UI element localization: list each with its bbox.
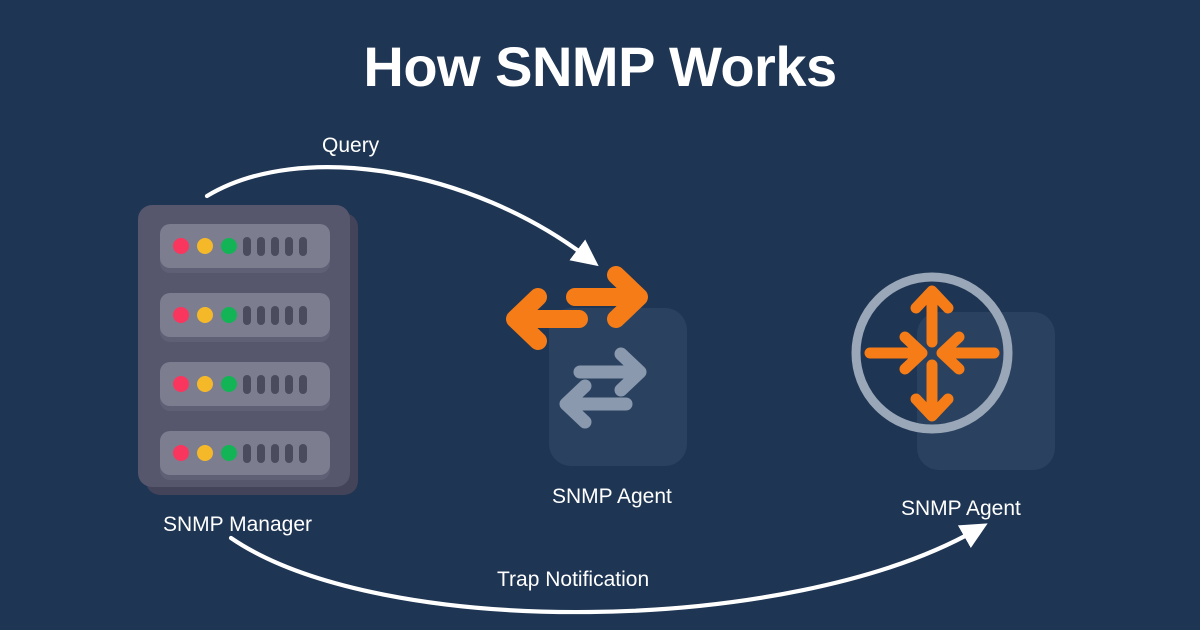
led-green-icon [221,307,237,323]
drive-slot-icon [299,306,307,325]
led-red-icon [173,445,189,461]
page-title: How SNMP Works [0,36,1200,98]
diagram-canvas: How SNMP Works [0,0,1200,630]
converging-arrows-circle-icon [845,266,1055,481]
rack-body [138,205,350,487]
drive-slot-icon [285,237,293,256]
drive-slot-icon [243,375,251,394]
drive-slot-icon [257,444,265,463]
drive-slot-icon [257,306,265,325]
rack-unit-face [160,431,330,475]
node-label-snmp-agent-right: SNMP Agent [901,497,1021,521]
rack-unit-face [160,362,330,406]
drive-slot-icon [285,306,293,325]
drive-slot-icon [243,444,251,463]
led-yellow-icon [197,238,213,254]
drive-slot-icon [299,444,307,463]
bidirectional-arrows-icon [487,262,687,477]
drive-slot-icon [271,306,279,325]
rack-unit-face [160,293,330,337]
server-rack-icon [138,205,358,495]
rack-unit [160,224,330,269]
node-label-snmp-agent-middle: SNMP Agent [552,485,672,509]
flow-label-query: Query [322,134,379,158]
led-yellow-icon [197,445,213,461]
drive-slot-icon [285,375,293,394]
drive-slot-icon [257,237,265,256]
rack-unit [160,362,330,407]
arrow-right-icon [870,337,922,369]
led-red-icon [173,307,189,323]
node-label-snmp-manager: SNMP Manager [163,513,312,537]
led-green-icon [221,238,237,254]
rack-unit [160,293,330,338]
flow-label-trap-notification: Trap Notification [497,568,649,592]
drive-slot-icon [271,237,279,256]
drive-slot-icon [271,444,279,463]
drive-slot-icon [243,306,251,325]
led-yellow-icon [197,307,213,323]
led-green-icon [221,376,237,392]
drive-slot-icon [285,444,293,463]
drive-slot-icon [271,375,279,394]
agent-panel-shape [917,312,1055,470]
rack-unit-face [160,224,330,268]
drive-slot-icon [299,375,307,394]
drive-slot-icon [243,237,251,256]
drive-slot-icon [299,237,307,256]
led-yellow-icon [197,376,213,392]
drive-slot-icon [257,375,265,394]
led-green-icon [221,445,237,461]
led-red-icon [173,376,189,392]
led-red-icon [173,238,189,254]
rack-unit [160,431,330,476]
